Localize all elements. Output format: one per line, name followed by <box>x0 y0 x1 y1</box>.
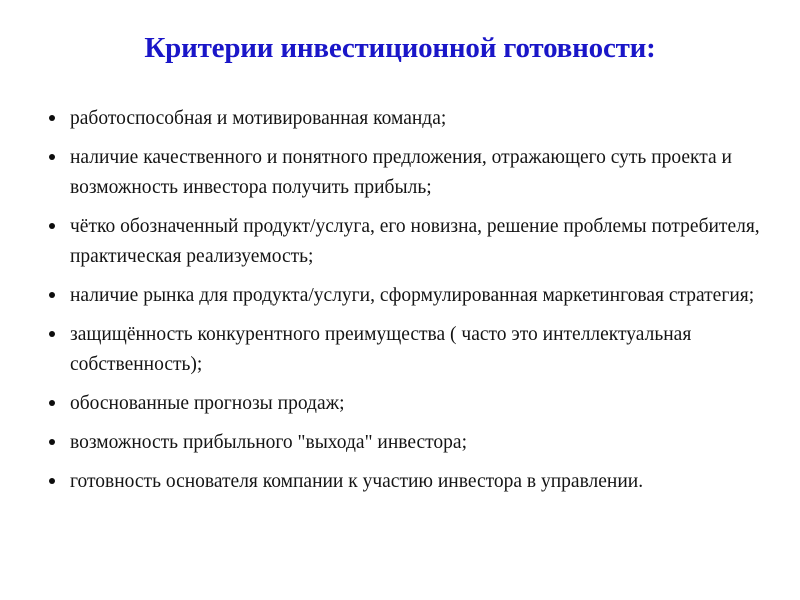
criteria-bullet-list: работоспособная и мотивированная команда… <box>44 104 774 497</box>
round-bullet-icon <box>49 115 55 121</box>
list-item-label: обоснованные прогнозы продаж; <box>70 389 774 419</box>
list-item: защищённость конкурентного преимущества … <box>44 320 774 380</box>
list-item-label: чётко обозначенный продукт/услуга, его н… <box>70 212 774 272</box>
presentation-slide: Критерии инвестиционной готовности: рабо… <box>0 0 800 600</box>
list-item: наличие качественного и понятного предло… <box>44 143 774 203</box>
list-item: наличие рынка для продукта/услуги, сформ… <box>44 281 774 311</box>
round-bullet-icon <box>49 439 55 445</box>
round-bullet-icon <box>49 292 55 298</box>
page-title: Критерии инвестиционной готовности: <box>0 31 800 65</box>
list-item-label: возможность прибыльного "выхода" инвесто… <box>70 428 774 458</box>
list-item: возможность прибыльного "выхода" инвесто… <box>44 428 774 458</box>
list-item-label: защищённость конкурентного преимущества … <box>70 320 774 380</box>
list-item: готовность основателя компании к участию… <box>44 467 774 497</box>
list-item-label: наличие рынка для продукта/услуги, сформ… <box>70 281 774 311</box>
round-bullet-icon <box>49 223 55 229</box>
round-bullet-icon <box>49 400 55 406</box>
list-item-label: работоспособная и мотивированная команда… <box>70 104 774 134</box>
list-item: работоспособная и мотивированная команда… <box>44 104 774 134</box>
list-item: обоснованные прогнозы продаж; <box>44 389 774 419</box>
list-item-label: готовность основателя компании к участию… <box>70 467 774 497</box>
list-item: чётко обозначенный продукт/услуга, его н… <box>44 212 774 272</box>
round-bullet-icon <box>49 478 55 484</box>
round-bullet-icon <box>49 154 55 160</box>
round-bullet-icon <box>49 331 55 337</box>
list-item-label: наличие качественного и понятного предло… <box>70 143 774 203</box>
